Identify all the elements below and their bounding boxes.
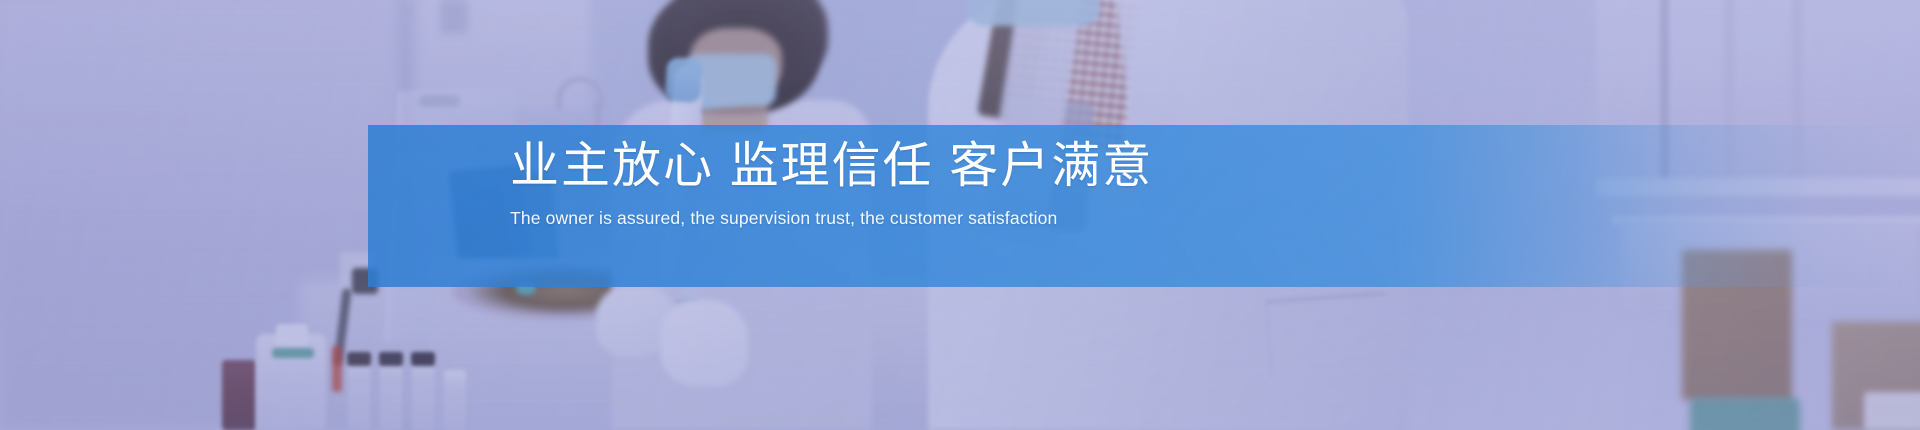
banner-text-block: 业主放心 监理信任 客户满意 The owner is assured, the… (510, 138, 1610, 231)
banner-subtitle: The owner is assured, the supervision tr… (510, 205, 1610, 231)
hero-banner: 业主放心 监理信任 客户满意 The owner is assured, the… (0, 0, 1920, 430)
banner-headline: 业主放心 监理信任 客户满意 (510, 138, 1610, 196)
